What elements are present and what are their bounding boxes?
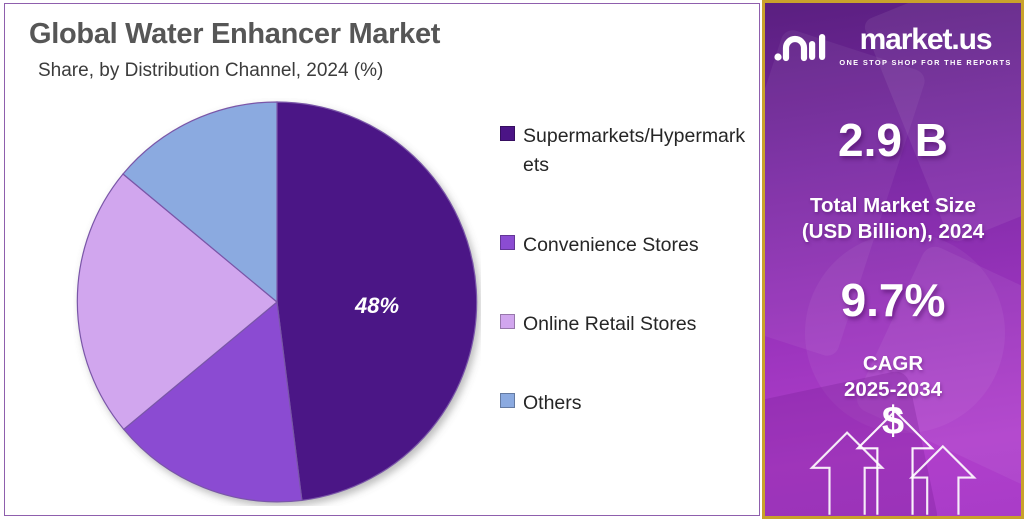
- brand-stats-panel: market.us ONE STOP SHOP FOR THE REPORTS …: [762, 0, 1024, 519]
- legend-swatch-icon: [500, 314, 515, 329]
- brand-name: market.us: [860, 25, 992, 55]
- chart-panel: Global Water Enhancer Market Share, by D…: [4, 3, 760, 516]
- cagr-caption-line-1: CAGR: [765, 351, 1021, 377]
- legend-label: Supermarkets/Hypermarkets: [523, 122, 755, 181]
- cagr-caption: CAGR 2025-2034: [765, 351, 1021, 403]
- infographic-canvas: Global Water Enhancer Market Share, by D…: [0, 0, 1024, 519]
- market-size-caption: Total Market Size (USD Billion), 2024: [765, 193, 1021, 245]
- pie-slices: [77, 102, 476, 502]
- market-size-caption-line-1: Total Market Size: [765, 193, 1021, 219]
- brand-logo: market.us ONE STOP SHOP FOR THE REPORTS: [765, 25, 1021, 67]
- pie-chart-svg: 48%: [73, 98, 481, 506]
- legend-label: Online Retail Stores: [523, 310, 755, 339]
- page-title: Global Water Enhancer Market: [29, 18, 440, 51]
- legend-label: Convenience Stores: [523, 231, 755, 260]
- legend-item-convenience-stores[interactable]: Convenience Stores: [500, 231, 755, 260]
- market-us-logo-icon: [774, 29, 830, 63]
- legend-item-supermarkets-hypermarkets[interactable]: Supermarkets/Hypermarkets: [500, 122, 755, 181]
- legend-swatch-icon: [500, 235, 515, 250]
- legend-item-others[interactable]: Others: [500, 389, 755, 418]
- legend-label: Others: [523, 389, 755, 418]
- growth-arrows-icon: [765, 406, 1021, 516]
- legend-swatch-icon: [500, 126, 515, 141]
- market-size-value: 2.9 B: [765, 113, 1021, 167]
- pie-slice-value-label: 48%: [354, 293, 399, 318]
- chart-subtitle: Share, by Distribution Channel, 2024 (%): [38, 60, 383, 82]
- cagr-value: 9.7%: [765, 273, 1021, 327]
- pie-chart: 48%: [73, 98, 481, 506]
- chart-legend: Supermarkets/Hypermarkets Convenience St…: [500, 122, 755, 418]
- brand-tagline: ONE STOP SHOP FOR THE REPORTS: [839, 58, 1011, 67]
- legend-swatch-icon: [500, 393, 515, 408]
- legend-item-online-retail-stores[interactable]: Online Retail Stores: [500, 310, 755, 339]
- market-size-caption-line-2: (USD Billion), 2024: [765, 219, 1021, 245]
